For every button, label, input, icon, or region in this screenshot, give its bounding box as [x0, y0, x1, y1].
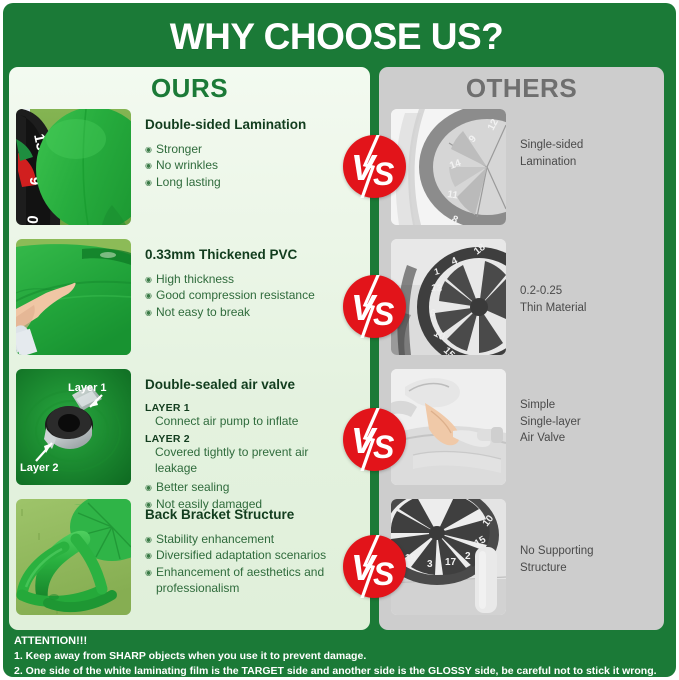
ours-panel: OURS: [9, 67, 370, 630]
svg-text:2: 2: [465, 551, 471, 562]
others-line: Single-layer: [520, 414, 636, 431]
feature-bullets: Stability enhancement Diversified adapta…: [145, 532, 327, 598]
others-line: Air Valve: [520, 430, 636, 447]
ours-row-4-text: Back Bracket Structure Stability enhance…: [131, 499, 327, 598]
ours-row-1-text: Double-sided Lamination Stronger No wrin…: [131, 109, 327, 192]
bullet: Stronger: [145, 142, 327, 158]
bullet: Stability enhancement: [145, 532, 327, 548]
others-row-2: 18 4 1 13 6 10 15 0.2-0.25 Thin Material: [379, 239, 664, 369]
svg-text:S: S: [373, 156, 395, 192]
layer-1-label: LAYER 1: [145, 402, 327, 414]
others-line: 0.2-0.25: [520, 283, 636, 300]
others-row-1: 12 9 14 11 8 Single-sided Lamination: [379, 109, 664, 239]
image-no-supporting-structure: 19 3 17 2 15 10: [391, 499, 506, 615]
feature-title: Double-sealed air valve: [145, 377, 327, 393]
svg-text:S: S: [373, 429, 395, 465]
bullet: Good compression resistance: [145, 288, 327, 304]
others-line: Single-sided: [520, 137, 636, 154]
layer-2-label: LAYER 2: [145, 433, 327, 445]
vs-badge-2: V S: [343, 275, 406, 338]
ours-rows: 13 9 0 Double-sided Lamination Stronger …: [9, 109, 370, 624]
others-line: Simple: [520, 397, 636, 414]
image-simple-single-layer-valve: [391, 369, 506, 485]
vs-badge-1: V S: [343, 135, 406, 198]
feature-title: Double-sided Lamination: [145, 117, 327, 133]
image-thin-material: 18 4 1 13 6 10 15: [391, 239, 506, 355]
feature-bullets: High thickness Good compression resistan…: [145, 272, 327, 322]
ours-heading: OURS: [9, 67, 370, 109]
bullet: No wrinkles: [145, 158, 327, 174]
page-title: WHY CHOOSE US?: [0, 16, 673, 58]
others-row-2-text: 0.2-0.25 Thin Material: [506, 239, 636, 316]
others-heading: OTHERS: [379, 67, 664, 109]
attention-block: ATTENTION!!! 1. Keep away from SHARP obj…: [14, 634, 664, 678]
others-row-1-text: Single-sided Lamination: [506, 109, 636, 170]
bullet: Enhancement of aesthetics and profession…: [145, 565, 327, 597]
attention-heading: ATTENTION!!!: [14, 634, 664, 649]
ours-row-1: 13 9 0 Double-sided Lamination Stronger …: [9, 109, 370, 239]
bullet: Diversified adaptation scenarios: [145, 548, 327, 564]
others-line: No Supporting: [520, 543, 636, 560]
svg-text:Layer 1: Layer 1: [68, 382, 107, 394]
bullet: High thickness: [145, 272, 327, 288]
bullet: Not easy to break: [145, 305, 327, 321]
attention-item-2: 2. One side of the white laminating film…: [14, 664, 664, 679]
others-line: Thin Material: [520, 300, 636, 317]
svg-text:11: 11: [447, 189, 459, 201]
others-row-3-text: Simple Single-layer Air Valve: [506, 369, 636, 447]
svg-text:13: 13: [431, 283, 443, 294]
layer-1-text: Connect air pump to inflate: [145, 414, 327, 430]
others-row-4-text: No Supporting Structure: [506, 499, 636, 576]
image-double-sided-lamination: 13 9 0: [16, 109, 131, 225]
others-line: Lamination: [520, 154, 636, 171]
image-single-sided-lamination: 12 9 14 11 8: [391, 109, 506, 225]
bullet: Better sealing: [145, 480, 327, 496]
feature-bullets: Stronger No wrinkles Long lasting: [145, 142, 327, 192]
others-line: Structure: [520, 560, 636, 577]
svg-text:19: 19: [405, 553, 417, 564]
ours-row-2-text: 0.33mm Thickened PVC High thickness Good…: [131, 239, 327, 322]
svg-text:S: S: [373, 296, 395, 332]
others-row-4: 19 3 17 2 15 10 No Supporting Structure: [379, 499, 664, 624]
infographic-root: WHY CHOOSE US? OURS: [0, 0, 679, 680]
svg-text:0: 0: [23, 215, 41, 225]
image-double-sealed-air-valve: Layer 1 Layer 2: [16, 369, 131, 485]
bullet: Long lasting: [145, 175, 327, 191]
others-rows: 12 9 14 11 8 Single-sided Lamination: [379, 109, 664, 624]
attention-item-1: 1. Keep away from SHARP objects when you…: [14, 649, 664, 664]
ours-row-4: Back Bracket Structure Stability enhance…: [9, 499, 370, 624]
others-panel: OTHERS: [379, 67, 664, 630]
image-back-bracket-structure: [16, 499, 131, 615]
ours-row-2: 0.33mm Thickened PVC High thickness Good…: [9, 239, 370, 369]
feature-title: 0.33mm Thickened PVC: [145, 247, 327, 263]
image-thickened-pvc: [16, 239, 131, 355]
svg-text:Layer 2: Layer 2: [20, 462, 59, 474]
vs-badge-4: V S: [343, 535, 406, 598]
svg-text:17: 17: [445, 557, 457, 568]
svg-text:S: S: [373, 556, 395, 592]
vs-badge-3: V S: [343, 408, 406, 471]
feature-title: Back Bracket Structure: [145, 507, 327, 523]
others-row-3: Simple Single-layer Air Valve: [379, 369, 664, 499]
ours-row-3: Layer 1 Layer 2 Double-sealed air valve …: [9, 369, 370, 499]
ours-row-3-text: Double-sealed air valve LAYER 1 Connect …: [131, 369, 327, 514]
svg-text:3: 3: [427, 559, 433, 570]
layer-2-text: Covered tightly to prevent air leakage: [145, 445, 327, 476]
